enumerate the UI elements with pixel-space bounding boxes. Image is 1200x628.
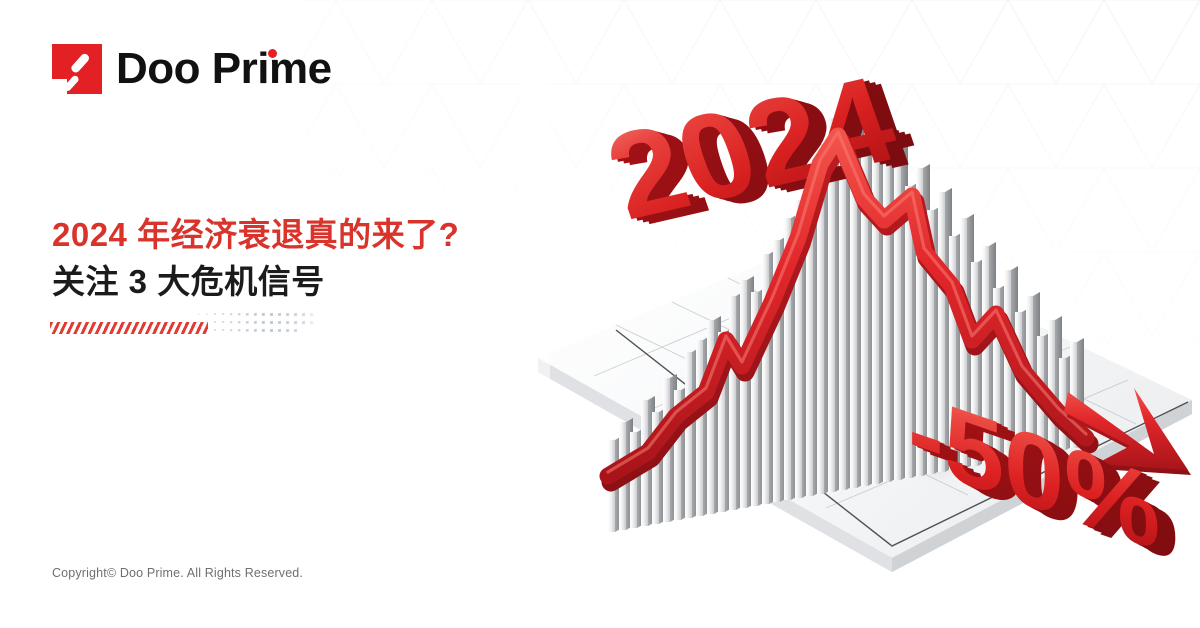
divider-hatch-bar: [50, 322, 208, 334]
chart-illustration: 2024 2024 2024 2024: [520, 40, 1200, 600]
headline-block: 2024 年经济衰退真的来了? 关注 3 大危机信号: [52, 212, 572, 306]
logo-wordmark-text: Doo Prime: [116, 44, 332, 93]
logo-wordmark: Doo Prime: [116, 47, 332, 91]
headline-line-2: 关注 3 大危机信号: [52, 259, 572, 306]
brand-logo[interactable]: Doo Prime: [52, 44, 332, 94]
divider-dot-grid: [196, 310, 320, 336]
copyright-text: Copyright© Doo Prime. All Rights Reserve…: [52, 566, 303, 580]
doo-prime-square-icon: [52, 44, 102, 94]
logo-i-dot-icon: [268, 49, 277, 58]
headline-line-1: 2024 年经济衰退真的来了?: [52, 212, 572, 259]
promotional-banner: Doo Prime 2024 年经济衰退真的来了? 关注 3 大危机信号: [0, 0, 1200, 628]
decorative-divider: [50, 310, 320, 336]
